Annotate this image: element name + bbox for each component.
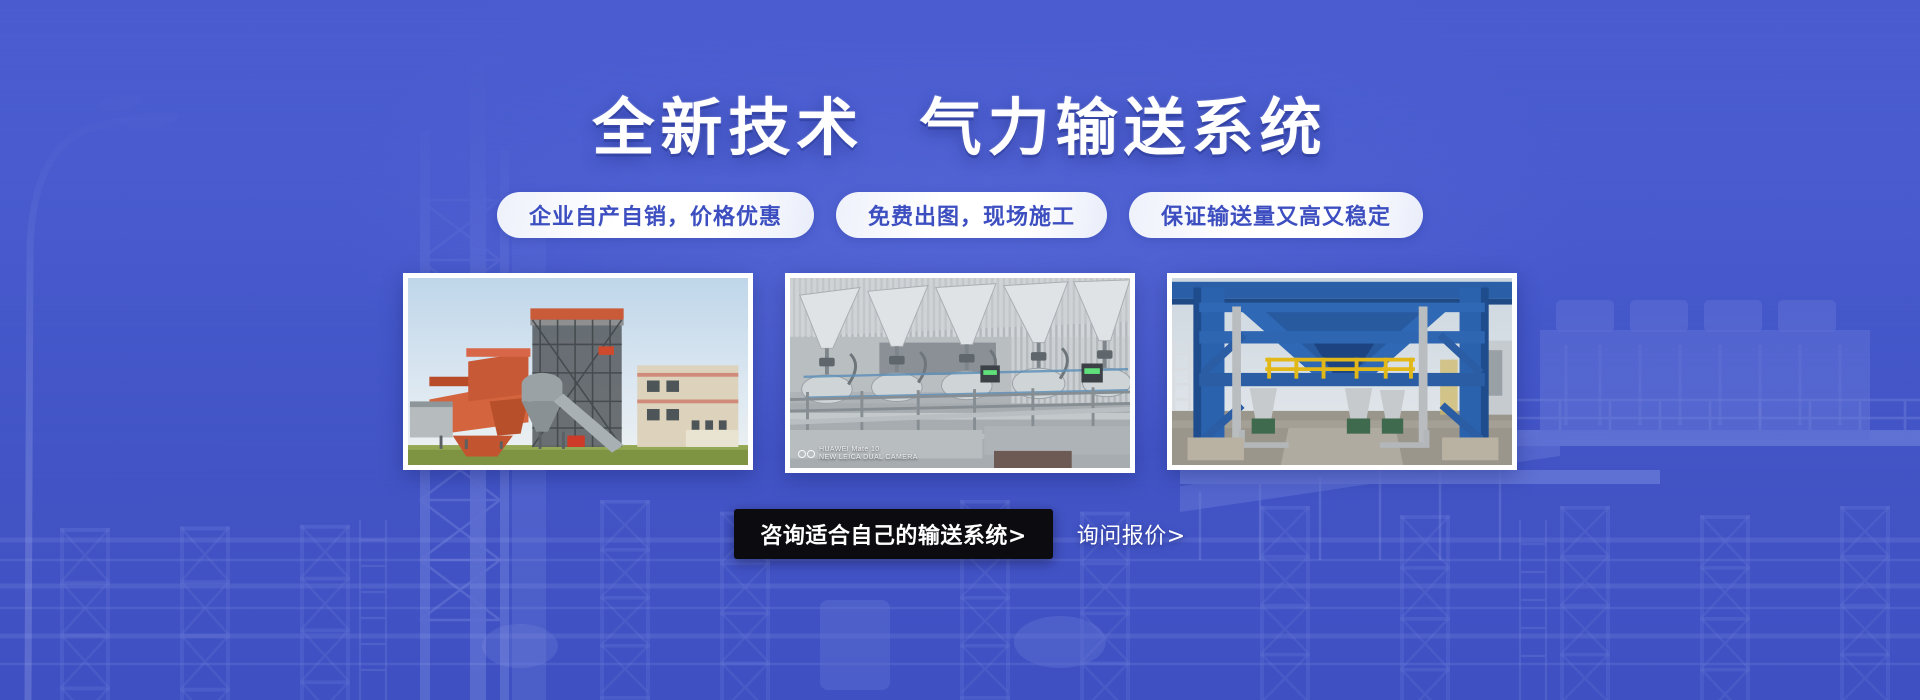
promo-banner: 全新技术 气力输送系统 企业自产自销，价格优惠 免费出图，现场施工 保证输送量又… <box>0 0 1920 700</box>
gallery-photo-3[interactable] <box>1167 273 1517 470</box>
feature-pill-2: 免费出图，现场施工 <box>836 192 1107 238</box>
feature-pill-1-label: 企业自产自销，价格优惠 <box>529 199 782 231</box>
camera-watermark: HUAWEI Mate 10 NEW LEICA DUAL CAMERA <box>798 446 918 462</box>
feature-pill-2-label: 免费出图，现场施工 <box>868 199 1075 231</box>
camera-watermark-text: HUAWEI Mate 10 NEW LEICA DUAL CAMERA <box>819 446 918 462</box>
gallery-photo-2[interactable]: HUAWEI Mate 10 NEW LEICA DUAL CAMERA <box>785 273 1135 473</box>
banner-content: 全新技术 气力输送系统 企业自产自销，价格优惠 免费出图，现场施工 保证输送量又… <box>0 0 1920 700</box>
feature-pill-3-label: 保证输送量又高又稳定 <box>1161 199 1391 231</box>
gallery-photo-1[interactable] <box>403 273 753 470</box>
camera-watermark-line2: NEW LEICA DUAL CAMERA <box>819 454 918 461</box>
request-quote-link[interactable]: 询问报价> <box>1077 518 1186 550</box>
feature-pill-list: 企业自产自销，价格优惠 免费出图，现场施工 保证输送量又高又稳定 <box>497 192 1423 238</box>
camera-lens-icon <box>798 450 815 458</box>
cta-row: 咨询适合自己的输送系统> 询问报价> <box>734 509 1185 559</box>
photo-gallery: HUAWEI Mate 10 NEW LEICA DUAL CAMERA <box>403 273 1517 473</box>
page-title: 全新技术 气力输送系统 <box>592 96 1327 160</box>
feature-pill-1: 企业自产自销，价格优惠 <box>497 192 814 238</box>
camera-watermark-line1: HUAWEI Mate 10 <box>819 446 880 453</box>
feature-pill-3: 保证输送量又高又稳定 <box>1129 192 1423 238</box>
consult-system-button[interactable]: 咨询适合自己的输送系统> <box>734 509 1052 559</box>
